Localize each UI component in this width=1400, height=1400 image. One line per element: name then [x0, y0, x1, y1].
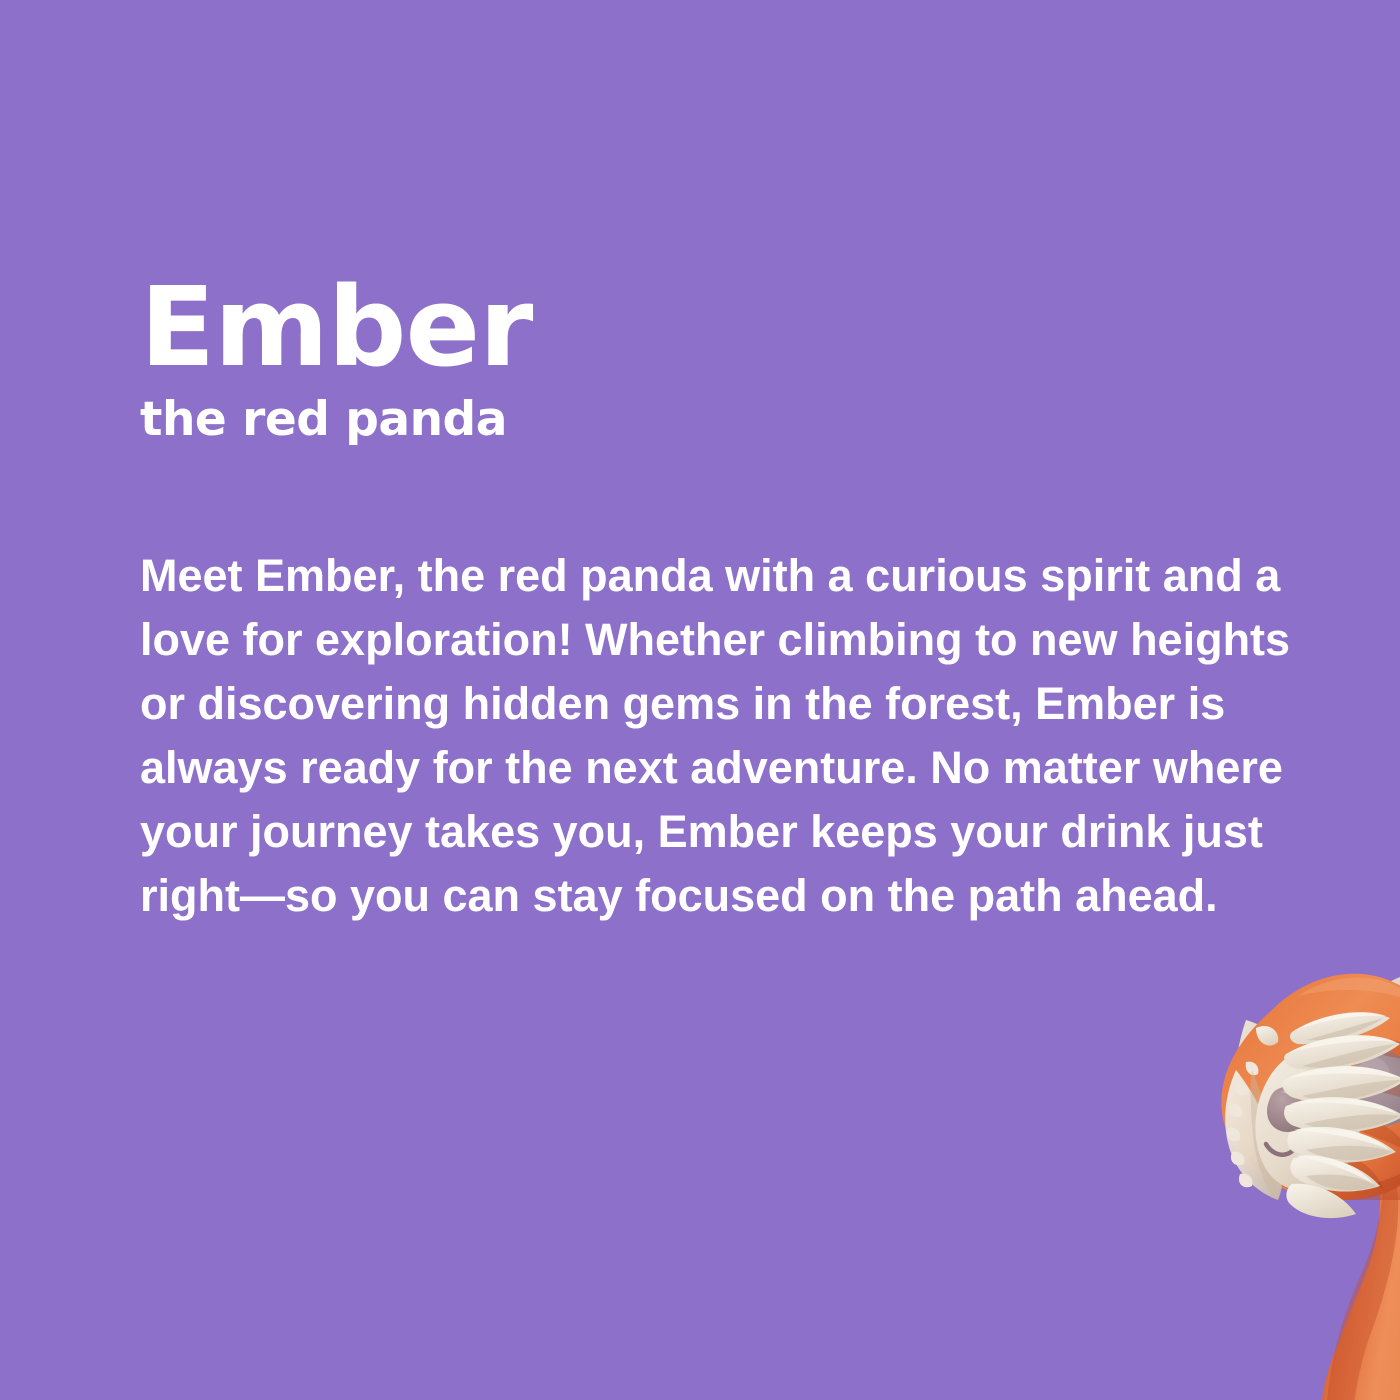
left-ear — [1234, 1020, 1308, 1114]
bottle-body — [1320, 1162, 1400, 1400]
nose-icon — [1267, 1086, 1311, 1132]
mouth — [1266, 1144, 1324, 1155]
lid-seam — [1326, 1166, 1400, 1198]
brow-tuft — [1256, 1026, 1278, 1046]
hero-description: Meet Ember, the red panda with a curious… — [140, 544, 1325, 927]
right-ear — [1340, 972, 1400, 1100]
cheek-fur — [1225, 1062, 1282, 1200]
page-subtitle: the red panda — [140, 394, 1320, 446]
head — [1221, 974, 1400, 1200]
eye-patch — [1342, 1043, 1400, 1133]
page-title: Ember — [140, 275, 1320, 380]
hero-text-block: Ember the red panda Meet Ember, the red … — [140, 275, 1320, 928]
muzzle — [1255, 1046, 1361, 1191]
tail-plume — [1282, 1012, 1400, 1218]
red-panda-illustration — [1040, 900, 1400, 1400]
product-story-card: Ember the red panda Meet Ember, the red … — [0, 0, 1400, 1400]
